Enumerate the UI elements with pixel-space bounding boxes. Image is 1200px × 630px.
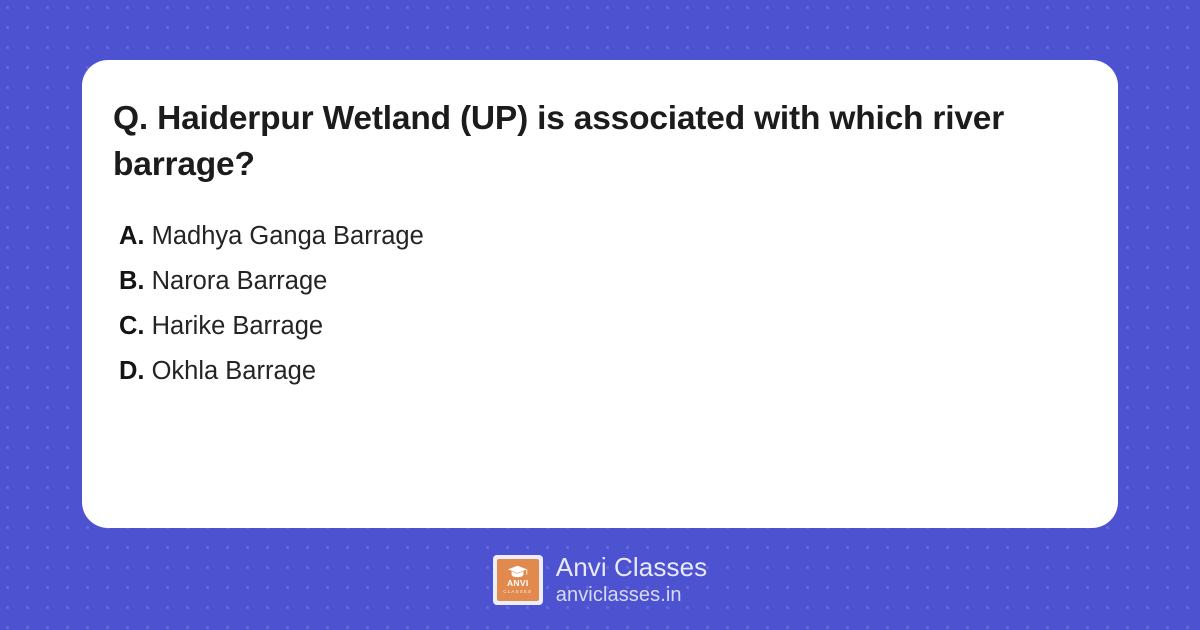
option-d[interactable]: D. Okhla Barrage (113, 349, 1088, 394)
logo-inner-square: ANVI CLASSES (497, 559, 539, 601)
option-a-letter: A. (119, 222, 145, 250)
question-card: Q. Haiderpur Wetland (UP) is associated … (82, 60, 1118, 528)
option-c-text: Harike Barrage (152, 312, 324, 340)
logo-subtitle-text: CLASSES (503, 589, 532, 595)
option-d-letter: D. (119, 357, 145, 385)
question-text: Q. Haiderpur Wetland (UP) is associated … (113, 96, 1058, 188)
brand-url: anviclasses.in (556, 582, 707, 608)
option-a[interactable]: A. Madhya Ganga Barrage (113, 214, 1088, 259)
option-c[interactable]: C. Harike Barrage (113, 304, 1088, 349)
option-b-text: Narora Barrage (152, 267, 328, 295)
anvi-classes-logo: ANVI CLASSES (493, 555, 543, 605)
brand-text-block: Anvi Classes anviclasses.in (556, 552, 707, 608)
brand-name: Anvi Classes (556, 552, 707, 582)
option-b-letter: B. (119, 267, 145, 295)
option-d-text: Okhla Barrage (152, 357, 316, 385)
logo-name-text: ANVI (507, 579, 529, 588)
options-list: A. Madhya Ganga Barrage B. Narora Barrag… (113, 214, 1088, 394)
footer-branding: ANVI CLASSES Anvi Classes anviclasses.in (0, 545, 1200, 615)
option-c-letter: C. (119, 312, 145, 340)
graduation-cap-icon (507, 565, 528, 578)
quiz-slide: Q. Haiderpur Wetland (UP) is associated … (0, 0, 1200, 630)
option-a-text: Madhya Ganga Barrage (152, 222, 424, 250)
option-b[interactable]: B. Narora Barrage (113, 259, 1088, 304)
